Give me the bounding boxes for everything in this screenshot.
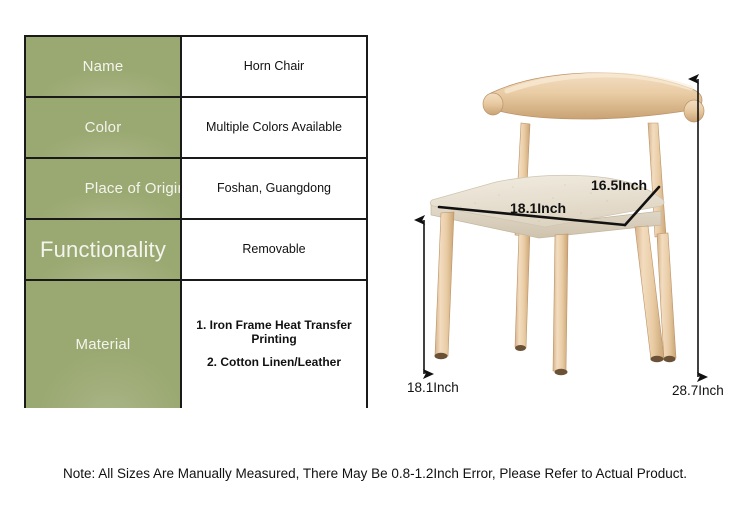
chair-figure: 18.1Inch 16.5Inch 18.1Inch 28.7Inch — [395, 35, 740, 420]
table-row: Place of Origin Foshan, Guangdong — [26, 159, 366, 220]
chair-foot-front-left — [435, 353, 448, 359]
spec-value-place-of-origin: Foshan, Guangdong — [182, 159, 366, 218]
chair-leg-front-left — [435, 212, 454, 356]
material-line-1: 1. Iron Frame Heat Transfer Printing — [188, 319, 360, 347]
chair-foot-front-right — [651, 356, 664, 362]
seat-depth-label: 16.5Inch — [591, 177, 647, 193]
table-row: Material 1. Iron Frame Heat Transfer Pri… — [26, 281, 366, 408]
spec-label-text: Functionality — [40, 237, 166, 263]
spec-label-place-of-origin: Place of Origin — [26, 159, 182, 218]
table-row: Name Horn Chair — [26, 37, 366, 98]
spec-value-material: 1. Iron Frame Heat Transfer Printing 2. … — [182, 281, 366, 408]
chair-foot-rear-right — [664, 356, 676, 362]
spec-label-color: Color — [26, 98, 182, 157]
chair-illustration: 18.1Inch 16.5Inch 18.1Inch 28.7Inch — [395, 35, 740, 420]
chair-horn-tip-right — [684, 100, 704, 122]
spec-value-name: Horn Chair — [182, 37, 366, 96]
spec-label-functionality: Functionality — [26, 220, 182, 279]
chair-foot-front-center — [555, 369, 568, 375]
total-height-label: 28.7Inch — [672, 383, 724, 398]
seat-width-label: 18.1Inch — [510, 200, 566, 216]
table-row: Functionality Removable — [26, 220, 366, 281]
spec-label-material: Material — [26, 281, 182, 408]
chair-leg-front-center — [553, 234, 568, 371]
footer-note: Note: All Sizes Are Manually Measured, T… — [0, 466, 750, 481]
chair-foot-rear-left — [515, 345, 526, 351]
chair-horn-tip-left — [483, 93, 503, 115]
spec-label-text: Name — [83, 58, 124, 75]
spec-label-name: Name — [26, 37, 182, 96]
spec-label-text: Material — [76, 336, 131, 353]
chair-leg-rear-left — [515, 231, 530, 348]
material-line-2: 2. Cotton Linen/Leather — [207, 356, 341, 370]
spec-table: Name Horn Chair Color Multiple Colors Av… — [24, 35, 368, 408]
spec-label-text: Color — [85, 119, 122, 136]
spec-value-functionality: Removable — [182, 220, 366, 279]
spec-label-text: Place of Origin — [85, 180, 182, 197]
table-row: Color Multiple Colors Available — [26, 98, 366, 159]
seat-height-label: 18.1Inch — [407, 380, 459, 395]
spec-value-color: Multiple Colors Available — [182, 98, 366, 157]
